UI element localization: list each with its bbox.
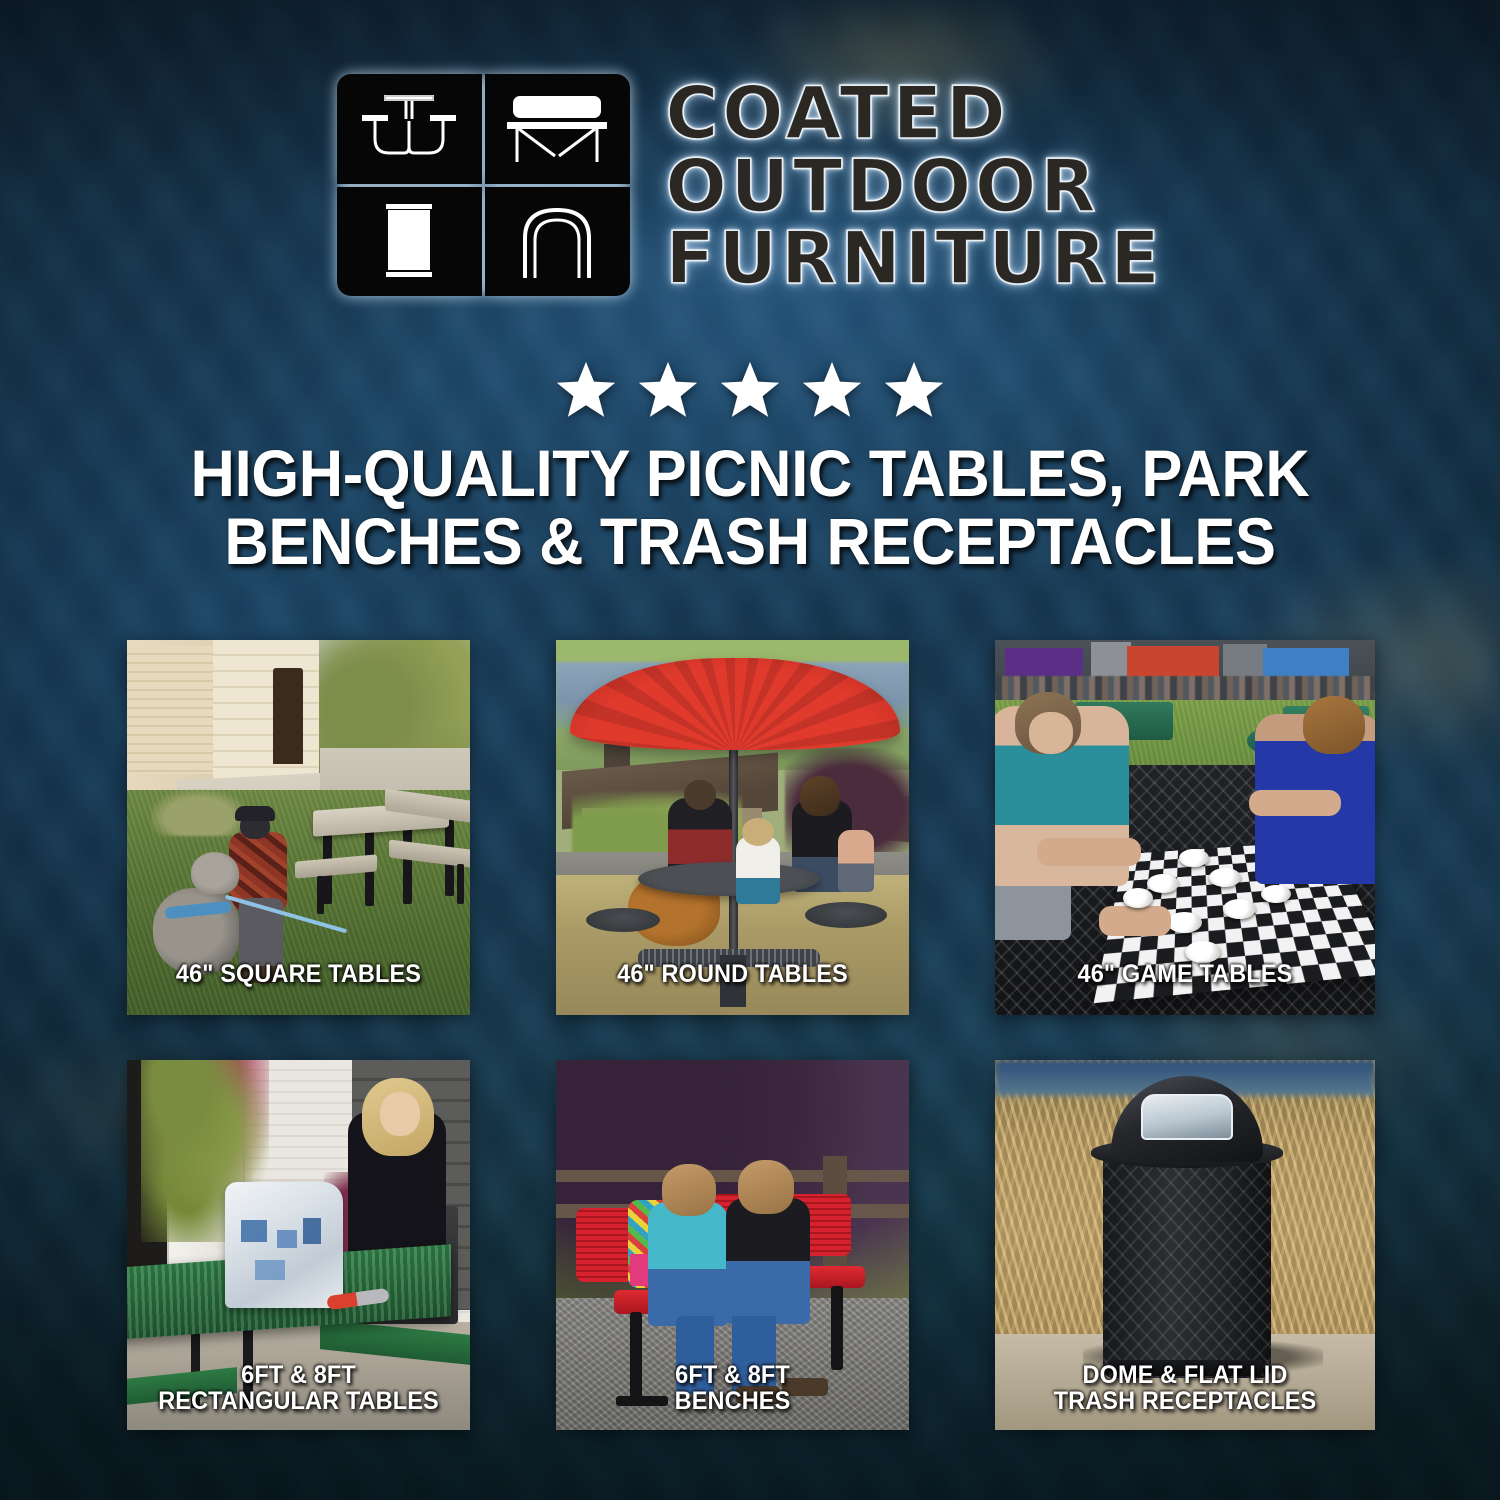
- product-card-trash-receptacles[interactable]: DOME & FLAT LID TRASH RECEPTACLES: [995, 1060, 1375, 1430]
- headline-line-1: HIGH-QUALITY PICNIC TABLES, PARK: [108, 440, 1391, 508]
- caption-line-1: 46" GAME TABLES: [1012, 962, 1358, 988]
- caption-line-1: 46" SQUARE TABLES: [143, 962, 454, 988]
- page-headline: HIGH-QUALITY PICNIC TABLES, PARK BENCHES…: [108, 440, 1391, 576]
- bench-icon: [485, 74, 630, 184]
- star-icon: [798, 358, 866, 424]
- product-grid: 46" SQUARE TABLES: [127, 640, 1375, 1430]
- star-icon: [716, 358, 784, 424]
- product-caption-trash-receptacles: DOME & FLAT LID TRASH RECEPTACLES: [1012, 1363, 1358, 1414]
- star-rating: [0, 358, 1500, 424]
- product-caption-rectangular-tables: 6FT & 8FT RECTANGULAR TABLES: [143, 1363, 454, 1414]
- star-icon: [552, 358, 620, 424]
- product-card-rectangular-tables[interactable]: 6FT & 8FT RECTANGULAR TABLES: [127, 1060, 470, 1430]
- trash-receptacle-icon: [337, 187, 482, 297]
- star-icon: [634, 358, 702, 424]
- product-card-square-tables[interactable]: 46" SQUARE TABLES: [127, 640, 470, 1015]
- headline-line-2: BENCHES & TRASH RECEPTACLES: [108, 508, 1391, 576]
- bike-rack-arch-icon: [485, 187, 630, 297]
- product-card-game-tables[interactable]: 46" GAME TABLES: [995, 640, 1375, 1015]
- brand-wordmark: COATED OUTDOOR FURNITURE: [666, 74, 1164, 294]
- caption-line-2: BENCHES: [572, 1389, 893, 1415]
- product-caption-square-tables: 46" SQUARE TABLES: [143, 962, 454, 988]
- brand-name-line-2: OUTDOOR: [666, 151, 1164, 222]
- star-icon: [880, 358, 948, 424]
- caption-line-1: 46" ROUND TABLES: [572, 962, 893, 988]
- caption-line-1: 6FT & 8FT: [143, 1363, 454, 1389]
- picnic-table-icon: [337, 74, 482, 184]
- caption-line-1: DOME & FLAT LID: [1012, 1363, 1358, 1389]
- product-caption-benches: 6FT & 8FT BENCHES: [572, 1363, 893, 1414]
- product-caption-game-tables: 46" GAME TABLES: [1012, 962, 1358, 988]
- caption-line-2: TRASH RECEPTACLES: [1012, 1389, 1358, 1415]
- brand-logo: COATED OUTDOOR FURNITURE: [0, 74, 1500, 296]
- caption-line-2: RECTANGULAR TABLES: [143, 1389, 454, 1415]
- brand-name-line-3: FURNITURE: [666, 223, 1164, 294]
- product-card-round-tables[interactable]: 46" ROUND TABLES: [556, 640, 909, 1015]
- product-card-benches[interactable]: 6FT & 8FT BENCHES: [556, 1060, 909, 1430]
- infographic-page: COATED OUTDOOR FURNITURE HIGH-QUALITY PI…: [0, 0, 1500, 1500]
- product-caption-round-tables: 46" ROUND TABLES: [572, 962, 893, 988]
- caption-line-1: 6FT & 8FT: [572, 1363, 893, 1389]
- brand-name-line-1: COATED: [666, 78, 1164, 149]
- logo-mark: [337, 74, 630, 296]
